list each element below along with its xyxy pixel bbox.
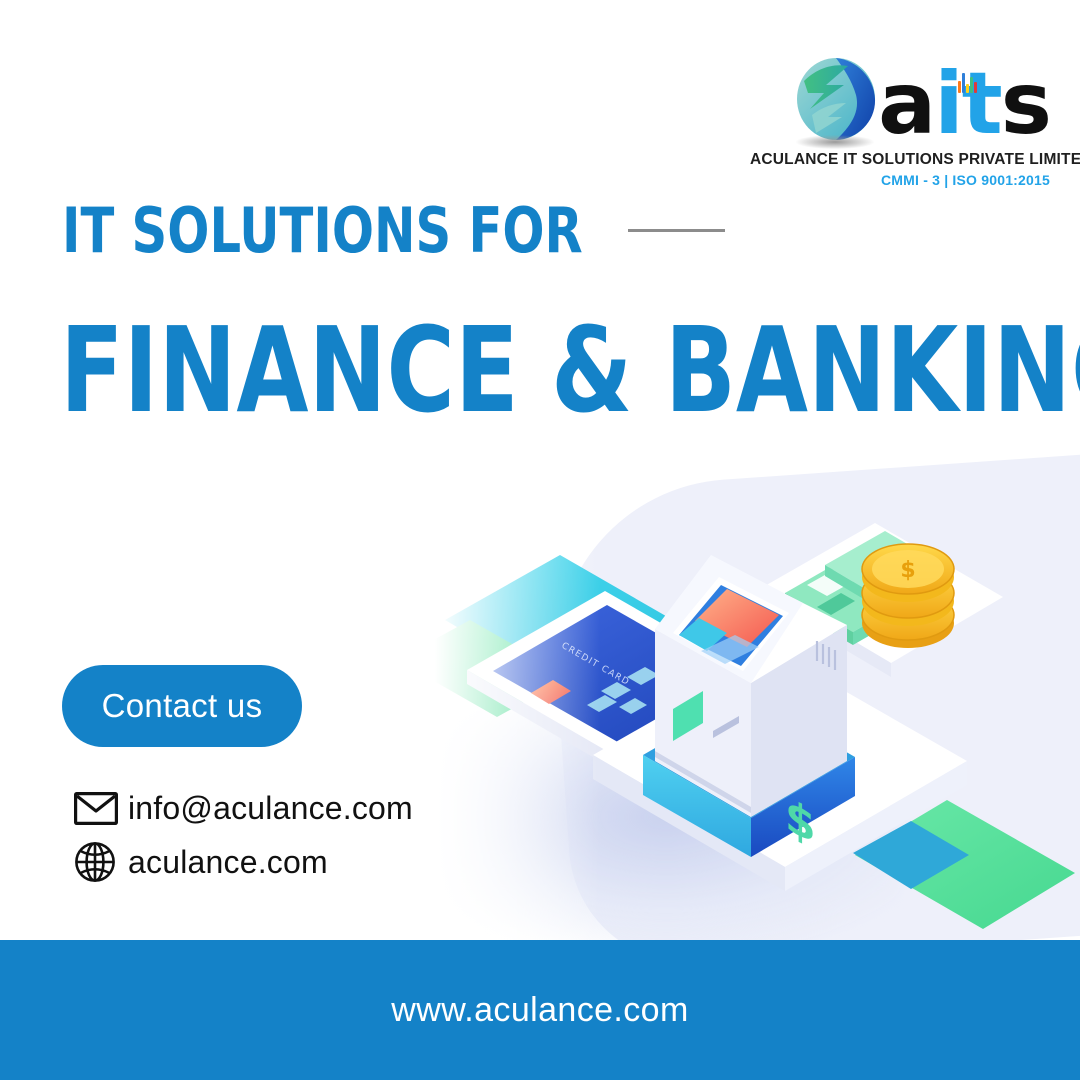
bar-chart-accent-icon — [958, 71, 978, 93]
company-logo[interactable]: aits ACULANCE IT SOLUTIONS PRIVATE LIMIT… — [750, 55, 1050, 188]
logo-certifications: CMMI - 3 | ISO 9001:2015 — [750, 172, 1050, 188]
coin-stack: $ — [862, 544, 954, 648]
footer-website-url[interactable]: www.aculance.com — [391, 991, 688, 1030]
logo-letter-a: a — [878, 54, 934, 154]
headline-line-2: FINANCE & BANKING — [60, 316, 1080, 425]
promo-poster: aits ACULANCE IT SOLUTIONS PRIVATE LIMIT… — [0, 0, 1080, 1080]
contact-details: info@aculance.com aculance.com — [74, 782, 413, 890]
email-value: info@aculance.com — [128, 790, 413, 827]
headline-top-row: IT SOLUTIONS FOR — [62, 202, 725, 259]
coin-dollar-glyph: $ — [900, 558, 915, 583]
contact-row-email[interactable]: info@aculance.com — [74, 782, 413, 834]
globe-icon — [74, 841, 128, 883]
globe-logo-icon — [790, 55, 882, 147]
footer-bar: www.aculance.com — [0, 940, 1080, 1080]
envelope-icon — [74, 792, 128, 825]
logo-letter-t: t — [962, 54, 1001, 154]
website-value: aculance.com — [128, 844, 328, 881]
headline-divider-rule — [628, 229, 725, 232]
logo-shadow — [796, 135, 874, 149]
headline-line-1: IT SOLUTIONS FOR — [62, 202, 583, 259]
contact-row-website[interactable]: aculance.com — [74, 836, 413, 888]
logo-letter-i: i — [934, 54, 961, 154]
logo-letters: aits — [878, 61, 1050, 147]
logo-wordmark: aits — [750, 55, 1050, 147]
logo-letter-s: s — [1001, 54, 1050, 154]
contact-us-button[interactable]: Contact us — [62, 665, 302, 747]
